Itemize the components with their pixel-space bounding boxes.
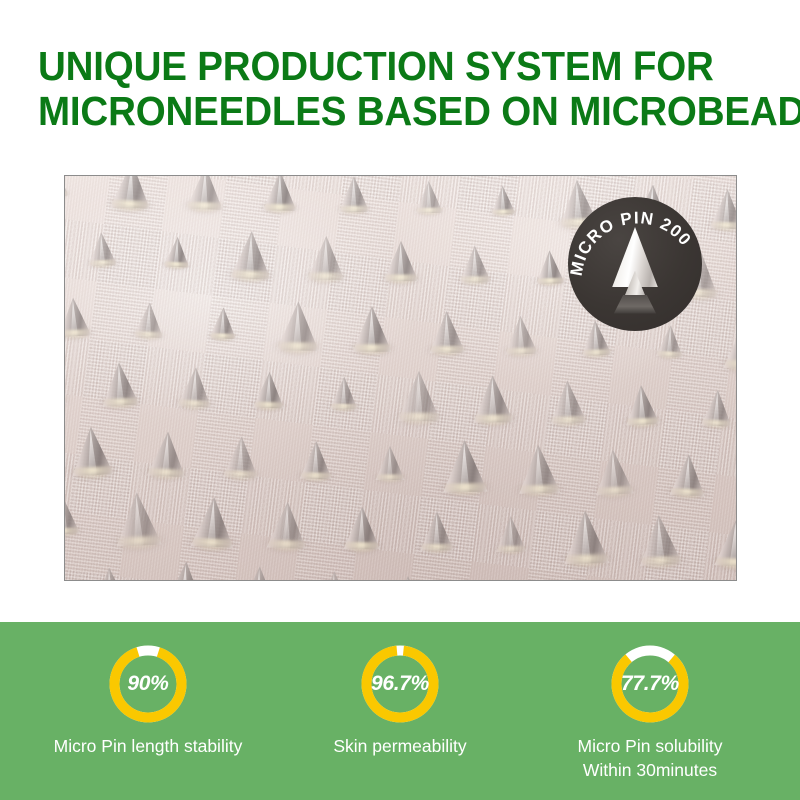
donut-value-3: 77.7% [611, 645, 689, 723]
stat-label-3: Micro Pin solubility Within 30minutes [530, 734, 770, 782]
stat-label-3-line2: Within 30minutes [530, 758, 770, 782]
stats-band: 90% Micro Pin length stability 96.7% Ski… [0, 622, 800, 800]
page-title: UNIQUE PRODUCTION SYSTEM FOR MICRONEEDLE… [38, 44, 783, 134]
page-title-line-2: MICRONEEDLES BASED ON MICROBEADS [38, 89, 738, 134]
micro-pin-icon [612, 227, 658, 311]
donut-gauge-1: 90% [109, 645, 187, 723]
page-title-line-1: UNIQUE PRODUCTION SYSTEM FOR [38, 44, 738, 89]
microneedle [465, 580, 500, 581]
stat-skin-permeability: 96.7% Skin permeability [290, 622, 510, 800]
poster-root: UNIQUE PRODUCTION SYSTEM FOR MICRONEEDLE… [0, 0, 800, 800]
donut-value-1: 90% [109, 645, 187, 723]
stat-label-2-line1: Skin permeability [290, 734, 510, 758]
stat-micro-pin-solubility: 77.7% Micro Pin solubility Within 30minu… [530, 622, 770, 800]
donut-value-2: 96.7% [361, 645, 439, 723]
stat-label-1: Micro Pin length stability [18, 734, 278, 758]
donut-gauge-2: 96.7% [361, 645, 439, 723]
microneedle-array-photo: MICRO PIN 200 [64, 175, 737, 581]
micro-pin-200-badge: MICRO PIN 200 [568, 197, 702, 331]
stat-label-1-line1: Micro Pin length stability [18, 734, 278, 758]
stat-micro-pin-length-stability: 90% Micro Pin length stability [18, 622, 278, 800]
stat-label-2: Skin permeability [290, 734, 510, 758]
donut-gauge-3: 77.7% [611, 645, 689, 723]
stat-label-3-line1: Micro Pin solubility [530, 734, 770, 758]
